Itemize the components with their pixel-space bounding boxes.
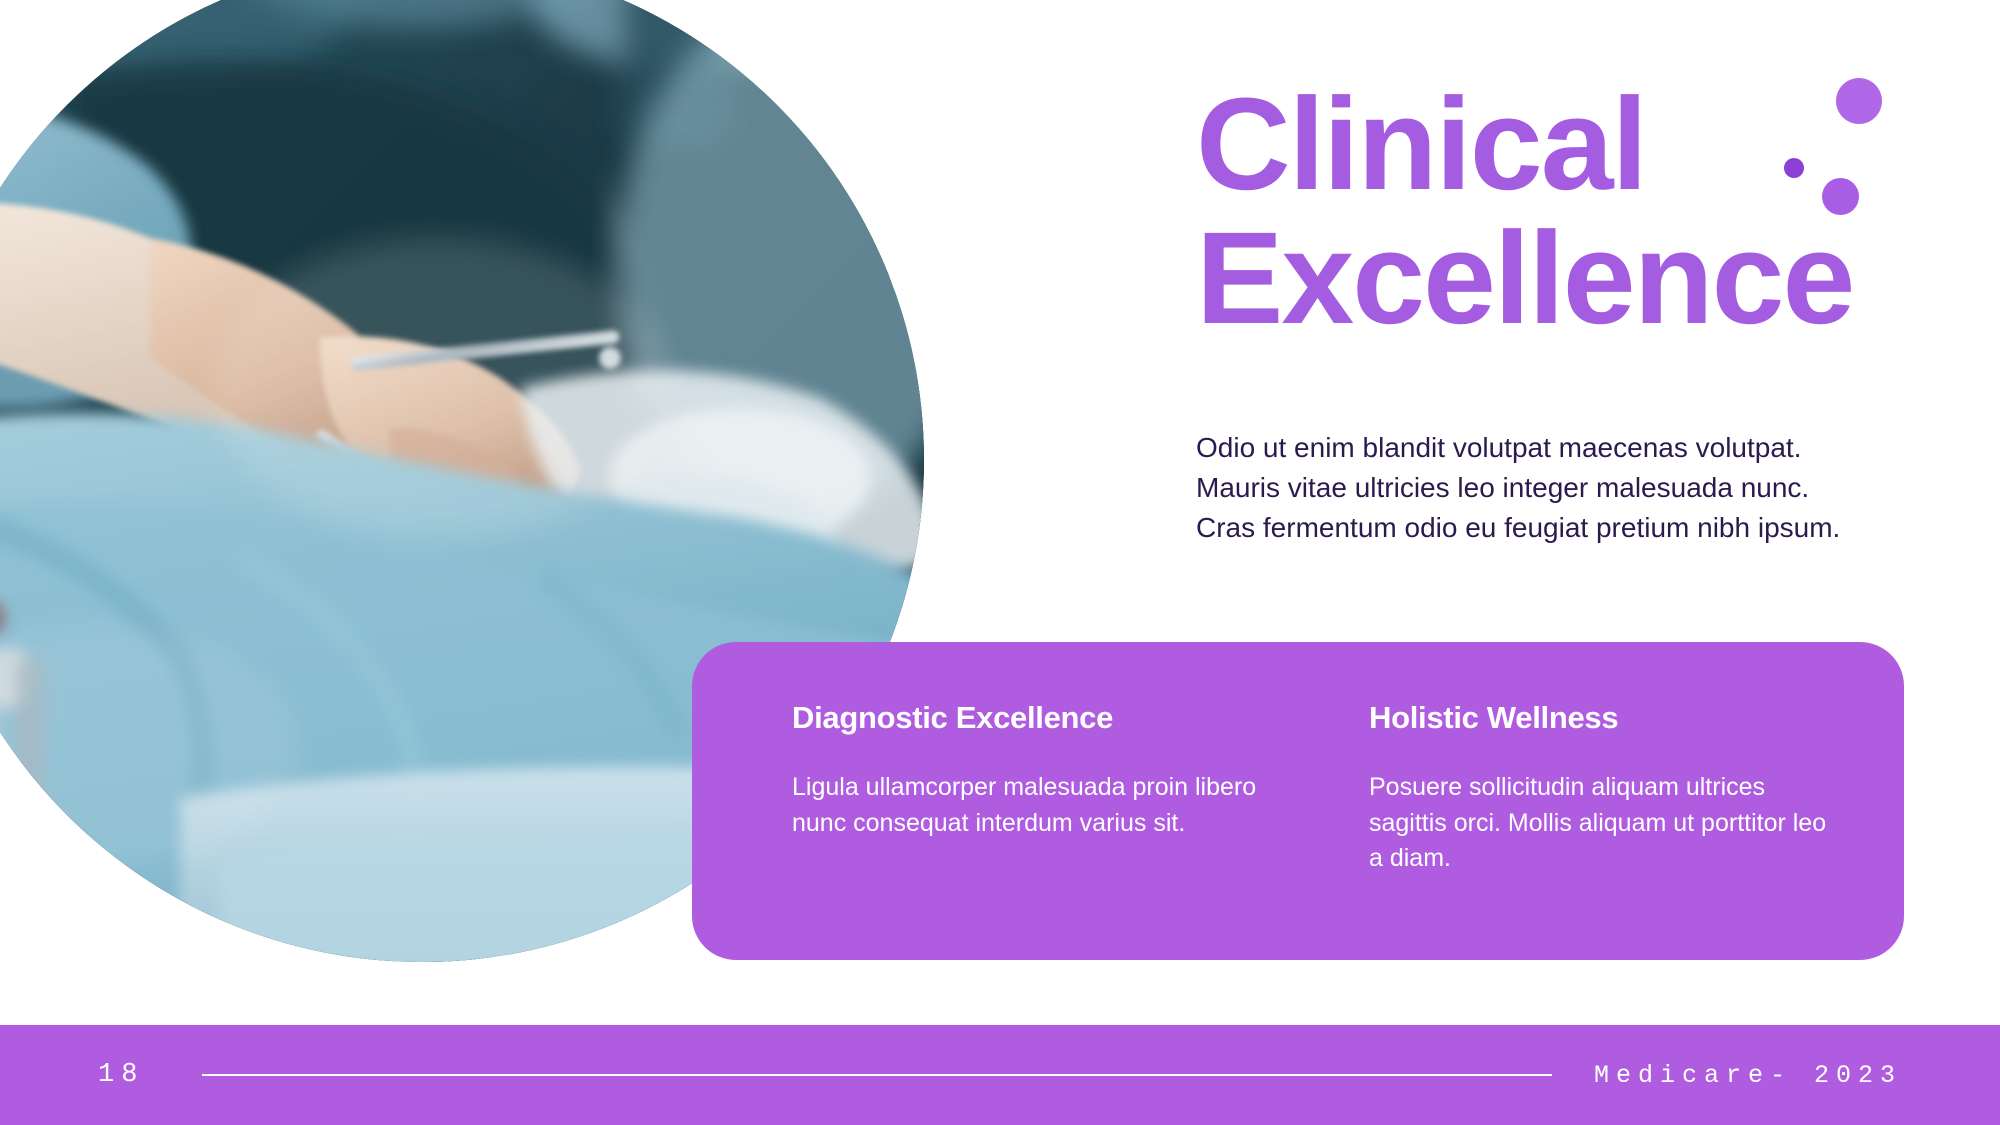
intro-paragraph: Odio ut enim blandit volutpat maecenas v… (1196, 428, 1846, 547)
feature-body-diagnostic-excellence: Ligula ullamcorper malesuada proin liber… (792, 770, 1262, 841)
footer-page-number: 18 (98, 1060, 144, 1090)
decorative-dot-small-icon (1784, 158, 1804, 178)
feature-card: Diagnostic Excellence Ligula ullamcorper… (692, 642, 1904, 960)
feature-title-holistic-wellness: Holistic Wellness (1369, 700, 1874, 736)
decorative-dot-large-icon (1836, 78, 1882, 124)
feature-column-holistic-wellness: Holistic Wellness Posuere sollicitudin a… (1327, 700, 1904, 960)
feature-title-diagnostic-excellence: Diagnostic Excellence (792, 700, 1297, 736)
footer-divider-rule (202, 1074, 1552, 1076)
feature-body-holistic-wellness: Posuere sollicitudin aliquam ultrices sa… (1369, 770, 1839, 877)
feature-column-diagnostic-excellence: Diagnostic Excellence Ligula ullamcorper… (692, 700, 1327, 960)
title-line-2: Excellence (1196, 220, 1936, 335)
footer-bar: 18 Medicare- 2023 (0, 1025, 2000, 1125)
slide-root: Clinical Excellence Odio ut enim blandit… (0, 0, 2000, 1125)
decorative-dot-medium-icon (1822, 178, 1859, 215)
title-line-1: Clinical (1196, 86, 1936, 201)
page-title: Clinical Excellence (1196, 86, 1936, 336)
footer-brand-label: Medicare- 2023 (1594, 1061, 1902, 1090)
